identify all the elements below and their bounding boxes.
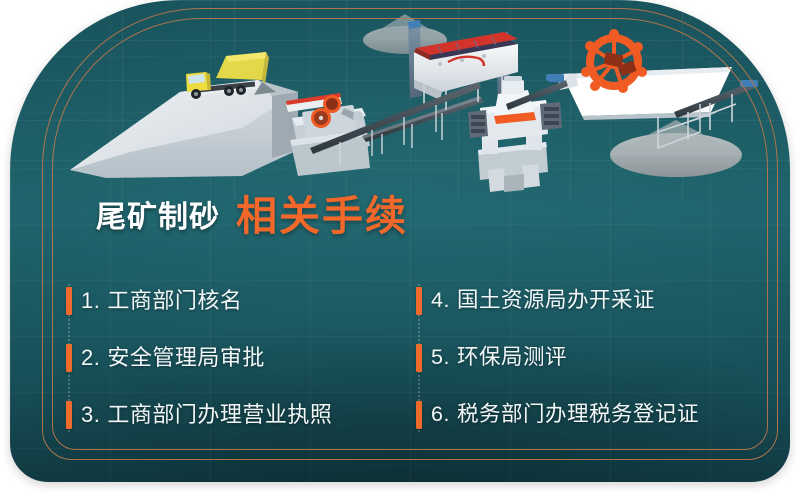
list-item[interactable]: 3. 工商部门办理营业执照 — [66, 386, 416, 443]
list-item[interactable]: 1. 工商部门核名 — [66, 272, 416, 329]
procedure-column-left: 1. 工商部门核名 2. 安全管理局审批 3. 工商部门办理营业执照 — [66, 272, 416, 442]
bullet-bar-icon — [66, 287, 72, 315]
wheel-sand-washer — [548, 29, 742, 120]
headline: 尾矿制砂 相关手续 — [96, 196, 408, 237]
list-item-index: 5. — [431, 347, 450, 369]
list-item-label: 国土资源局办开采证 — [457, 290, 655, 312]
bullet-bar-icon — [66, 344, 72, 372]
list-item-index: 4. — [431, 290, 450, 312]
list-item-index: 1. — [81, 290, 100, 312]
procedure-column-right: 4. 国土资源局办开采证 5. 环保局测评 6. 税务部门办理税务登记证 — [416, 272, 766, 442]
dump-truck — [186, 52, 276, 99]
bullet-bar-icon — [416, 344, 422, 372]
bullet-bar-icon — [66, 401, 72, 429]
production-line-illustration — [10, 0, 790, 200]
list-item-index: 3. — [81, 404, 100, 426]
headline-prefix: 尾矿制砂 — [96, 203, 220, 237]
feed-ramp — [70, 80, 298, 178]
list-item-label: 安全管理局审批 — [107, 347, 265, 369]
list-item[interactable]: 2. 安全管理局审批 — [66, 329, 416, 386]
list-item-label: 工商部门办理营业执照 — [107, 404, 332, 426]
procedure-lists: 1. 工商部门核名 2. 安全管理局审批 3. 工商部门办理营业执照 — [66, 272, 766, 442]
list-item-index: 2. — [81, 347, 100, 369]
stockpile-right — [610, 120, 742, 177]
list-item-index: 6. — [431, 404, 450, 426]
list-item[interactable]: 4. 国土资源局办开采证 — [416, 272, 766, 329]
list-item-label: 税务部门办理税务登记证 — [457, 404, 699, 426]
list-item-label: 环保局测评 — [457, 347, 567, 369]
poster-root: 尾矿制砂 相关手续 1. 工商部门核名 2. 安全管理局审批 — [0, 0, 800, 500]
headline-main: 相关手续 — [236, 196, 408, 237]
teal-panel: 尾矿制砂 相关手续 1. 工商部门核名 2. 安全管理局审批 — [10, 0, 790, 482]
bullet-bar-icon — [416, 287, 422, 315]
list-item[interactable]: 6. 税务部门办理税务登记证 — [416, 386, 766, 443]
list-item-label: 工商部门核名 — [107, 290, 242, 312]
list-item[interactable]: 5. 环保局测评 — [416, 329, 766, 386]
bullet-bar-icon — [416, 401, 422, 429]
